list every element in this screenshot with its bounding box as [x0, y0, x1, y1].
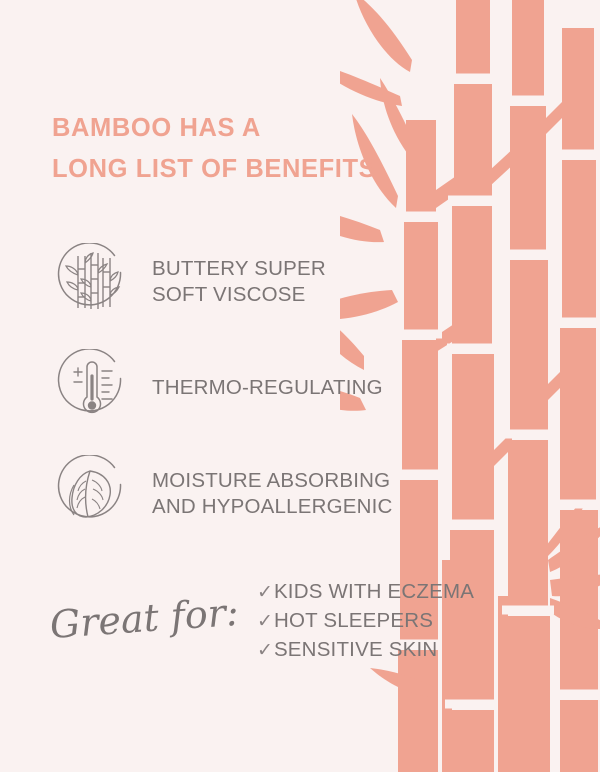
- great-for-section: Great for: ✓KIDS WITH ECZEMA ✓HOT SLEEPE…: [50, 578, 474, 665]
- benefit-label-line-2: SOFT VISCOSE: [152, 282, 326, 308]
- benefit-label-line-2: AND HYPOALLERGENIC: [152, 494, 393, 520]
- list-item: ✓KIDS WITH ECZEMA: [257, 578, 474, 607]
- headline-line-2: LONG LIST OF BENEFITS: [52, 149, 376, 190]
- benefit-item: THERMO-REGULATING: [52, 349, 452, 427]
- benefit-label-line-1: MOISTURE ABSORBING: [152, 468, 393, 494]
- benefit-item: BUTTERY SUPER SOFT VISCOSE: [52, 243, 452, 321]
- benefit-label-line-1: THERMO-REGULATING: [152, 375, 383, 401]
- thermometer-icon: [52, 349, 130, 427]
- poster-canvas: BAMBOO HAS A LONG LIST OF BENEFITS: [0, 0, 600, 772]
- benefit-item: MOISTURE ABSORBING AND HYPOALLERGENIC: [52, 455, 452, 533]
- bamboo-stalks-icon: [52, 243, 130, 321]
- headline-line-1: BAMBOO HAS A: [52, 108, 376, 149]
- benefit-label: MOISTURE ABSORBING AND HYPOALLERGENIC: [152, 468, 393, 520]
- check-icon: ✓: [257, 608, 274, 636]
- page-title: BAMBOO HAS A LONG LIST OF BENEFITS: [52, 108, 376, 190]
- benefit-label: THERMO-REGULATING: [152, 375, 383, 401]
- list-item-label: KIDS WITH ECZEMA: [274, 580, 474, 603]
- check-icon: ✓: [257, 579, 274, 607]
- benefits-list: BUTTERY SUPER SOFT VISCOSE: [52, 243, 452, 561]
- list-item: ✓HOT SLEEPERS: [257, 607, 474, 636]
- list-item-label: SENSITIVE SKIN: [274, 638, 437, 661]
- feather-icon: [52, 455, 130, 533]
- list-item: ✓SENSITIVE SKIN: [257, 636, 474, 665]
- benefit-label-line-1: BUTTERY SUPER: [152, 256, 326, 282]
- list-item-label: HOT SLEEPERS: [274, 609, 433, 632]
- check-icon: ✓: [257, 637, 274, 665]
- great-for-list: ✓KIDS WITH ECZEMA ✓HOT SLEEPERS ✓SENSITI…: [257, 578, 474, 665]
- benefit-label: BUTTERY SUPER SOFT VISCOSE: [152, 256, 326, 308]
- great-for-label: Great for:: [49, 592, 240, 643]
